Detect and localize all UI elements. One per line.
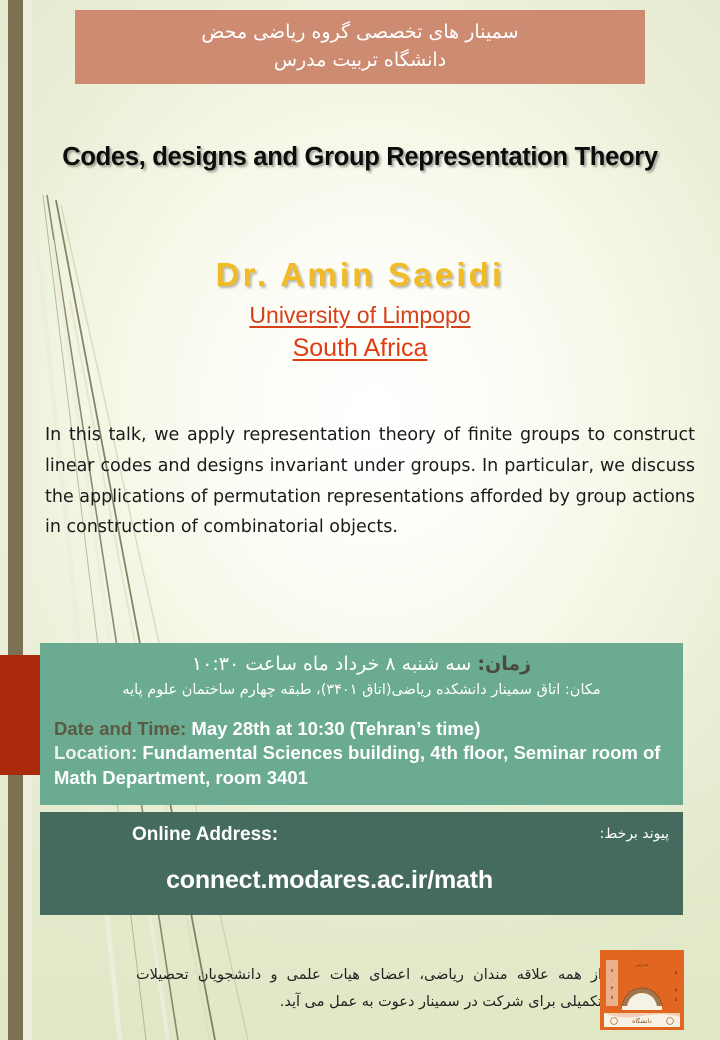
speaker-block: Dr. Amin Saeidi University of Limpopo So… (0, 256, 720, 363)
seminar-poster: سمینار های تخصصی گروه ریاضی محض دانشگاه … (0, 0, 720, 1040)
svg-text:٥: ٥ (611, 995, 614, 1001)
svg-text:٠: ٠ (611, 977, 614, 983)
farsi-time-line: زمان: سه شنبه ۸ خرداد ماه ساعت ۱۰:۳۰ (54, 651, 669, 678)
svg-text:٨: ٨ (675, 970, 678, 976)
svg-text:٠: ٠ (675, 979, 678, 985)
svg-text:٣: ٣ (675, 988, 678, 994)
english-datetime-line: Date and Time: May 28th at 10:30 (Tehran… (54, 717, 669, 741)
online-address-header-row: Online Address: پیوند برخط: (40, 812, 683, 850)
online-meeting-url[interactable]: connect.modares.ac.ir/math (40, 866, 683, 895)
speaker-country: South Africa (0, 334, 720, 363)
abstract-text: In this talk, we apply representation th… (45, 420, 695, 543)
speaker-name: Dr. Amin Saeidi (0, 256, 720, 294)
invitation-text: از همه علاقه مندان ریاضی، اعضای هیات علم… (136, 962, 602, 1016)
svg-text:دانشگاه: دانشگاه (632, 1017, 652, 1025)
farsi-location-line: مکان: اتاق سمینار دانشکده ریاضی(اتاق ۳۴۰… (54, 680, 669, 700)
svg-text:٤: ٤ (675, 997, 678, 1003)
farsi-time-value: سه شنبه ۸ خرداد ماه ساعت ۱۰:۳۰ (192, 653, 471, 675)
logo-artwork: ٨ ٠ ٣ ٥ ٨ ٠ ٣ ٤ دانشگاه مدرس (600, 950, 684, 1030)
english-location-label: Location: (54, 742, 137, 763)
page-title: Codes, designs and Group Representation … (0, 143, 720, 172)
online-address-label-farsi: پیوند برخط: (600, 826, 669, 842)
english-location-line: Location: Fundamental Sciences building,… (54, 741, 669, 790)
event-info-box: زمان: سه شنبه ۸ خرداد ماه ساعت ۱۰:۳۰ مکا… (40, 643, 683, 805)
farsi-time-label: زمان: (477, 653, 531, 675)
header-banner: سمینار های تخصصی گروه ریاضی محض دانشگاه … (75, 10, 645, 84)
english-info-block: Date and Time: May 28th at 10:30 (Tehran… (54, 717, 669, 790)
online-address-label: Online Address: (132, 824, 278, 846)
banner-line-1: سمینار های تخصصی گروه ریاضی محض (201, 20, 518, 46)
svg-text:٣: ٣ (611, 986, 614, 992)
svg-text:٨: ٨ (611, 968, 614, 974)
online-address-box: Online Address: پیوند برخط: connect.moda… (40, 812, 683, 915)
speaker-affiliation: University of Limpopo (0, 302, 720, 329)
banner-line-2: دانشگاه تربیت مدرس (274, 48, 446, 74)
english-datetime-label: Date and Time: (54, 718, 186, 739)
svg-text:مدرس: مدرس (635, 962, 649, 968)
english-location-value: Fundamental Sciences building, 4th floor… (54, 742, 660, 787)
english-datetime-value: May 28th at 10:30 (Tehran’s time) (191, 718, 480, 739)
university-logo: ٨ ٠ ٣ ٥ ٨ ٠ ٣ ٤ دانشگاه مدرس (600, 950, 684, 1030)
